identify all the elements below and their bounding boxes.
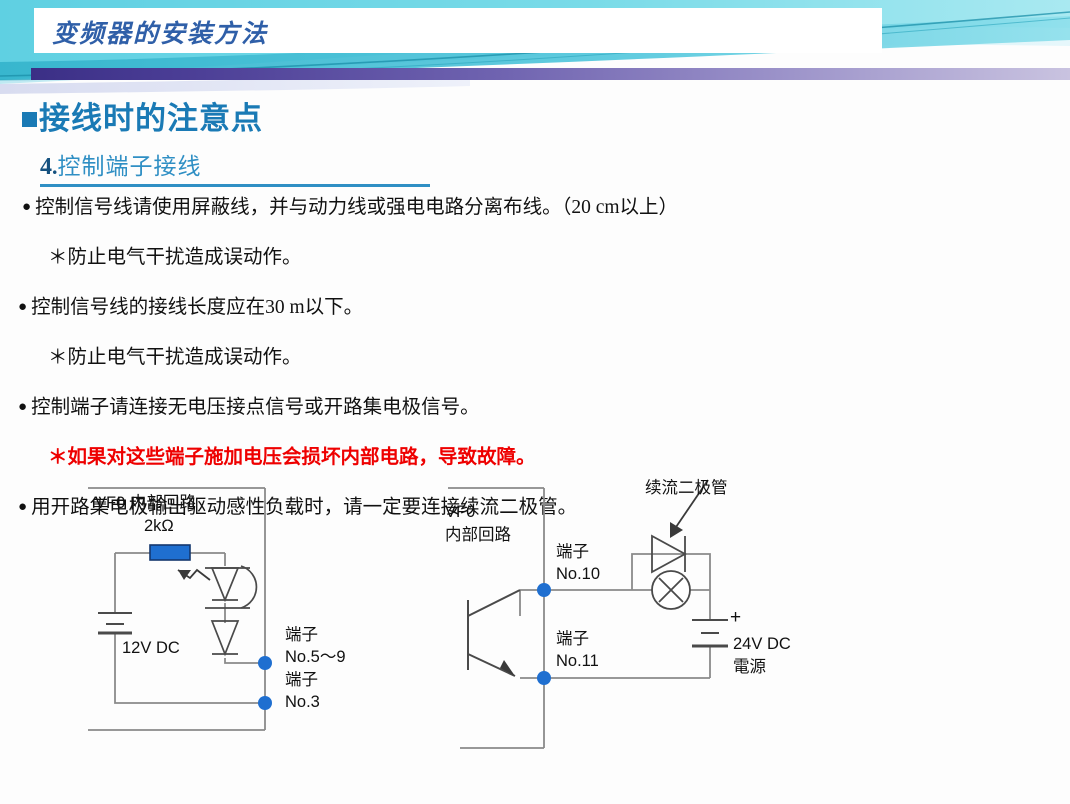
flyback-diode-label: 续流二极管 <box>645 478 728 499</box>
terminal-3-label-line1: 端子 <box>285 670 318 691</box>
square-bullet-icon <box>22 112 37 127</box>
bullet-note: ＊防止电气干扰造成误动作。 <box>48 243 1048 273</box>
light-arrow-icon <box>178 570 210 580</box>
supply-24v-label-line1: 24V DC <box>733 634 791 655</box>
terminal-5to9-label-line2: No.5～9 <box>285 647 346 668</box>
battery-12v-symbol <box>98 613 132 633</box>
purple-divider-bar <box>31 68 1070 80</box>
photocoupler-receiver-symbol <box>205 566 256 608</box>
terminal-10-label-line1: 端子 <box>556 542 589 563</box>
left-block-label: VF0 内部回路 <box>95 493 196 514</box>
terminal-node-5to9[interactable] <box>258 656 272 670</box>
page-heading-label: 接线时的注意点 <box>39 101 263 136</box>
section-title: 控制端子接线 <box>58 154 202 179</box>
relay-coil-symbol <box>652 571 690 609</box>
bullet-item: ●控制信号线请使用屏蔽线，并与动力线或强电电路分离布线。（20 cm以上） <box>22 192 1048 223</box>
supply-12v-label: 12V DC <box>122 638 180 659</box>
bullet-note: ＊防止电气干扰造成误动作。 <box>48 343 1048 373</box>
resistor-2k-symbol <box>150 545 190 560</box>
terminal-11-label-line1: 端子 <box>556 629 589 650</box>
section-heading: 4.控制端子接线 <box>40 147 430 187</box>
page-heading: 接线时的注意点 <box>22 93 263 138</box>
slide-title: 变频器的安装方法 <box>52 14 268 50</box>
battery-24v-symbol <box>692 620 728 646</box>
supply-24v-label-line2: 電源 <box>733 657 766 678</box>
bullet-text: 控制端子请连接无电压接点信号或开路集电极信号。 <box>31 397 480 418</box>
terminal-node-3[interactable] <box>258 696 272 710</box>
section-number: 4 <box>40 154 52 180</box>
slide-root: 变频器的安装方法 接线时的注意点 4.控制端子接线 ●控制信号线请使用屏蔽线，并… <box>0 0 1070 804</box>
bullet-item: ●控制信号线的接线长度应在30 m以下。 <box>18 292 1048 323</box>
right-circuit-schematic <box>420 458 860 788</box>
terminal-10-label-line2: No.10 <box>556 564 600 585</box>
bullet-text: 控制信号线请使用屏蔽线，并与动力线或强电电路分离布线。（20 cm以上） <box>35 197 678 218</box>
right-block-label-line1: VF0 <box>445 502 475 523</box>
diode-symbol <box>212 621 238 654</box>
circuit-diagram-area: VF0 内部回路 2kΩ 12V DC 端子 No.5～9 端子 No.3 <box>0 440 1070 804</box>
npn-transistor-symbol <box>468 590 520 676</box>
terminal-3-label-line2: No.3 <box>285 692 320 713</box>
right-block-label-line2: 内部回路 <box>445 525 511 546</box>
terminal-11-label-line2: No.11 <box>556 651 599 672</box>
bullet-dot-icon: ● <box>18 299 27 315</box>
bullet-dot-icon: ● <box>18 399 27 415</box>
bullet-text: 控制信号线的接线长度应在30 m以下。 <box>31 297 363 318</box>
terminal-5to9-label-line1: 端子 <box>285 625 318 646</box>
terminal-node-10[interactable] <box>537 583 551 597</box>
terminal-node-11[interactable] <box>537 671 551 685</box>
bullet-item: ●控制端子请连接无电压接点信号或开路集电极信号。 <box>18 392 1048 423</box>
bullet-dot-icon: ● <box>22 199 31 215</box>
battery-polarity-label: + <box>730 607 741 628</box>
resistor-value-label: 2kΩ <box>144 516 174 537</box>
